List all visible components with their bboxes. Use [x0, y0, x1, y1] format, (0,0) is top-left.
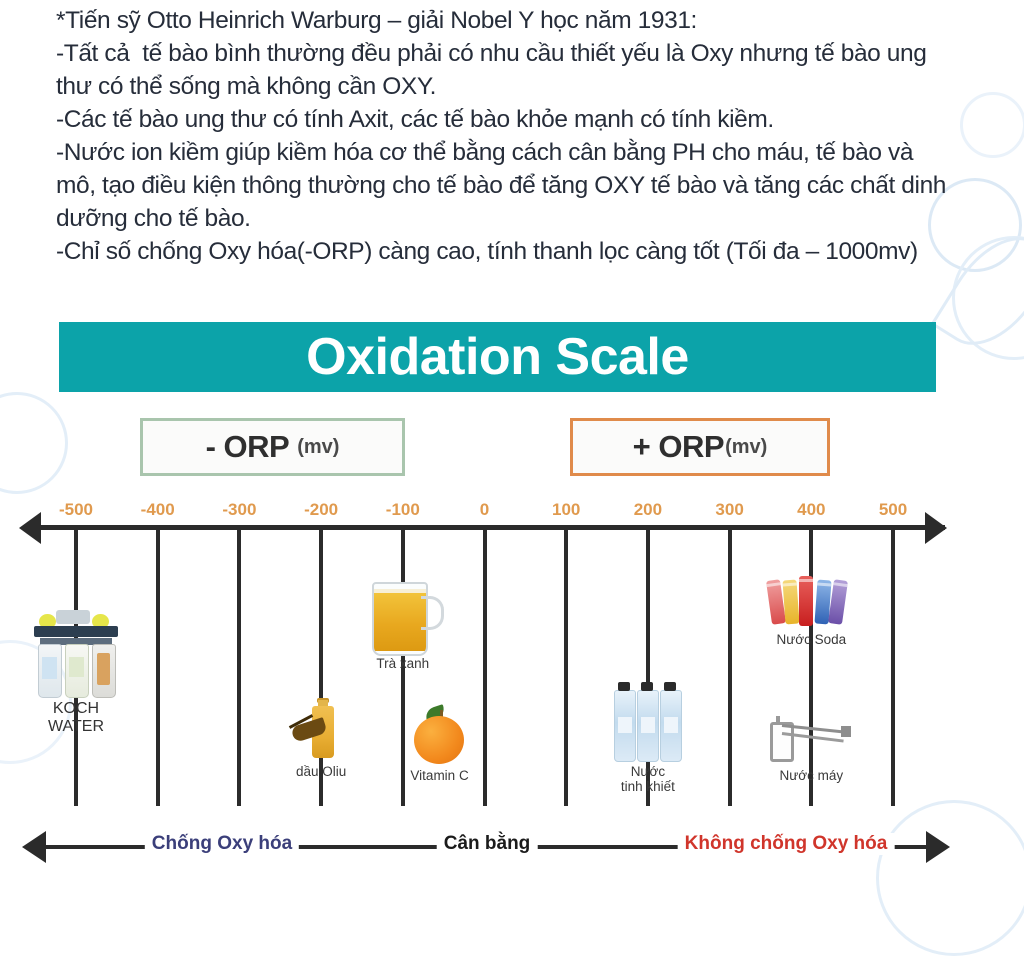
zone-arrow-right-icon	[926, 831, 950, 863]
legend-positive-orp: + ORP (mv)	[570, 418, 830, 476]
scale-item: Nước Soda	[767, 574, 855, 647]
legend-negative-orp: - ORP (mv)	[140, 418, 405, 476]
axis-tick-label: -100	[386, 500, 420, 520]
axis-tick-label: 400	[797, 500, 825, 520]
oxidation-scale-banner: Oxidation Scale	[59, 322, 936, 392]
scale-item: Trà xanh	[364, 578, 442, 671]
scale-item: dầu Oliu	[294, 700, 348, 779]
intro-line: -Chỉ số chống Oxy hóa(-ORP) càng cao, tí…	[56, 235, 956, 268]
axis-tick-label: 200	[634, 500, 662, 520]
axis-tick-label: 100	[552, 500, 580, 520]
axis-arrow-right-icon	[925, 512, 947, 544]
soda-cans-icon	[767, 574, 855, 630]
axis-tick	[564, 528, 568, 806]
axis-tick	[237, 528, 241, 806]
scale-item: KOCH WATER	[30, 598, 122, 736]
axis-tick-label: 300	[715, 500, 743, 520]
intro-text-block: *Tiến sỹ Otto Heinrich Warburg – giải No…	[56, 4, 956, 268]
axis-tick-label: -300	[222, 500, 256, 520]
legend-negative-orp-unit: (mv)	[297, 436, 339, 459]
intro-line: -Tất cả tế bào bình thường đều phải có n…	[56, 37, 956, 103]
scale-item-label: Nước Soda	[767, 632, 855, 647]
scale-item-label: Nước tinh khiết	[612, 764, 684, 794]
scale-item: Nước tinh khiết	[612, 680, 684, 794]
zone-label-oxidant: Không chống Oxy hóa	[678, 833, 895, 855]
faucet-icon	[768, 714, 854, 766]
axis-tick	[156, 528, 160, 806]
orange-fruit-icon	[409, 704, 471, 766]
legend-positive-orp-label: + ORP	[633, 429, 724, 465]
axis-tick-label: -500	[59, 500, 93, 520]
zone-bar: Chống Oxy hóa Cân bằng Không chống Oxy h…	[0, 826, 1024, 866]
scale-item-label: KOCH WATER	[30, 700, 122, 736]
water-filter-icon	[30, 598, 122, 698]
axis-tick-label: 500	[879, 500, 907, 520]
olive-oil-icon	[294, 700, 348, 762]
zone-arrow-left-icon	[22, 831, 46, 863]
scale-item: Vitamin C	[409, 704, 471, 783]
legend-negative-orp-label: - ORP	[206, 429, 290, 465]
axis-tick	[891, 528, 895, 806]
zone-label-antioxidant: Chống Oxy hóa	[145, 833, 299, 855]
zone-label-balanced: Cân bằng	[437, 833, 538, 855]
scale-item-label: Nước máy	[768, 768, 854, 783]
axis-tick	[483, 528, 487, 806]
axis-tick-label: -200	[304, 500, 338, 520]
intro-line: -Các tế bào ung thư có tính Axit, các tế…	[56, 103, 956, 136]
scale-item-label: Trà xanh	[364, 656, 442, 671]
page-title: Oxidation Scale	[306, 327, 689, 387]
scale-item-label: Vitamin C	[409, 768, 471, 783]
legend-positive-orp-unit: (mv)	[725, 436, 767, 459]
water-bottles-icon	[612, 680, 684, 762]
axis-tick	[728, 528, 732, 806]
axis-tick-label: 0	[480, 500, 489, 520]
axis-tick-label: -400	[141, 500, 175, 520]
intro-line: *Tiến sỹ Otto Heinrich Warburg – giải No…	[56, 4, 956, 37]
axis-arrow-left-icon	[19, 512, 41, 544]
green-tea-icon	[364, 578, 442, 654]
scale-item: Nước máy	[768, 714, 854, 783]
intro-line: -Nước ion kiềm giúp kiềm hóa cơ thể bằng…	[56, 136, 956, 235]
scale-item-label: dầu Oliu	[294, 764, 348, 779]
